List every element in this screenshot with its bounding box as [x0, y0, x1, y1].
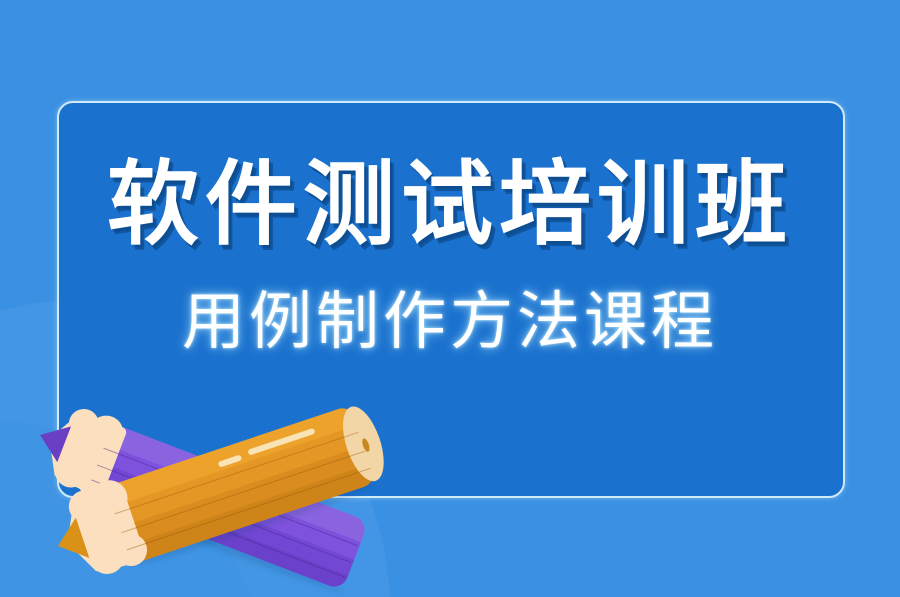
pencil-illustration — [0, 0, 900, 597]
poster-canvas: 软件测试培训班 用例制作方法课程 — [0, 0, 900, 597]
